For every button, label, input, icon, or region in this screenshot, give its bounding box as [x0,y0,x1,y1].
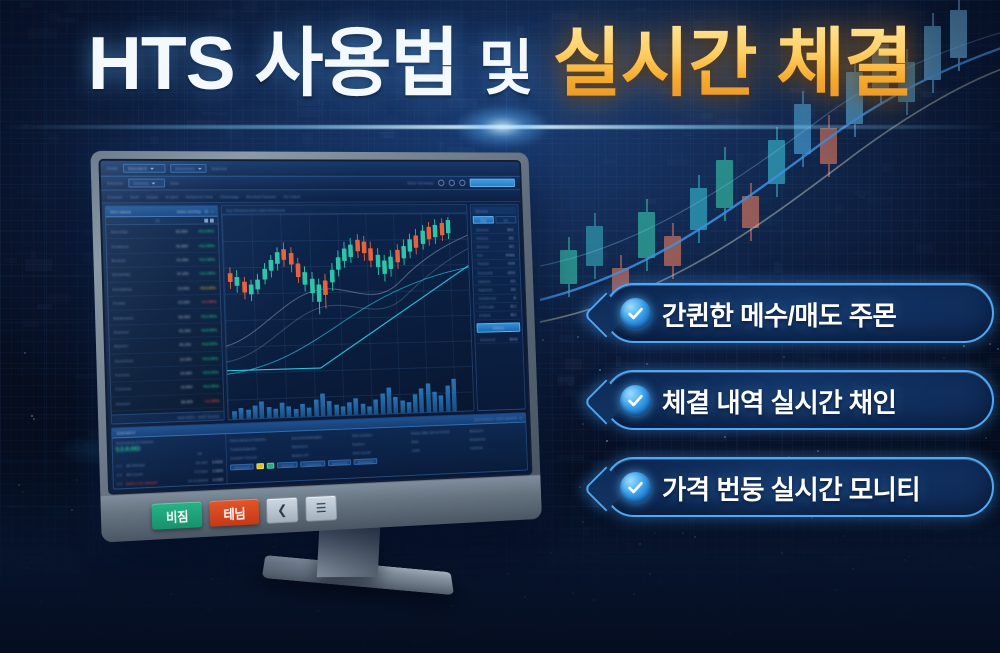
watchlist-symbol: Dtmulort [115,400,168,407]
order-field-row[interactable]: Enhjeot65,1 [476,311,520,321]
lens-flare-core [455,105,550,149]
grid-icon[interactable] [204,218,208,222]
candlestick [439,223,444,235]
check-circle-icon [620,298,651,329]
volume-bar [320,394,325,416]
order-field-label: Enn [477,253,483,258]
watchlist-symbol: Roonact [111,257,163,263]
execution-row-amount: 6,5000 [212,459,224,464]
watchlist-symbol: Dsetevoous [113,314,166,320]
watchlist-change: +3.2.50% [189,271,216,276]
order-field-value: nn1 [510,278,516,283]
watchlist-panel: Dlen Ujwasa Dtetsr (Nchbg) 92 × Uh [105,205,225,425]
title-part-gold: 실시간 체결 [552,21,912,105]
volume-bar [273,408,278,417]
close-icon[interactable]: × [211,208,213,213]
execution-row-amount: 0,0800 [212,468,224,473]
execution-field[interactable]: Deesosmmanrgfes [291,433,348,440]
toolbar-label: Emovonn [107,181,124,186]
toolbar-label: at value [165,194,179,199]
feature-badge-label: 가격 번둥 실시간 모니티 [662,468,920,507]
order-field-row[interactable]: QtvoousNto2 [473,225,517,234]
candlestick [336,257,341,270]
watchlist-price: 53,200 [165,314,190,319]
watchlist-header: Dlen Ujwasa Dtetsr (Nchbg) 92 × [106,206,218,217]
volume-bar [300,404,305,417]
watchlist-price: 10,200 [166,356,191,362]
order-field-label: Inqunnno [478,287,493,292]
volume-bar [360,403,365,414]
toolbar-dropdown-value: Dybosmanc [175,166,195,171]
candlestick [420,231,425,244]
feature-badge-label: 체곁 내역 실시간 채인 [662,381,896,420]
volume-bar [419,389,424,413]
settings-icon[interactable] [438,180,444,187]
candlestick [388,256,393,269]
toolbar-dropdown[interactable]: Kimensoj [128,179,165,188]
volume-bar [380,394,385,414]
watchlist-price: 19,500 [167,385,192,391]
order-tab-group: Duy Sel [473,216,517,224]
watchlist-symbol: Fronvioy [114,371,167,378]
execution-panel-meta: Qnol bemnn : 5n41 Quenvrt [474,415,517,421]
watchlist-symbol: Dlavolro [114,343,167,349]
watchlist-symbol: Foomiory [115,385,168,392]
app-toolbar-row-1: Undan Emcrosis 8 Dybosmanc Dejartoerj [100,161,519,177]
watchlist-row[interactable]: Roonact21,000+3.2.50% [107,253,219,269]
order-footer-label: Snnmrootl [480,337,496,342]
watchlist-change: +5.2.50% [187,229,214,234]
candlestick [375,254,380,267]
watchlist-rows: Sanvotiga52,000+5.2.50%Tinosbove51,800+4… [106,224,225,424]
volume-bar [386,388,391,414]
order-footer-value: Benls [509,336,518,341]
execution-field[interactable]: Dhnie DBK-DK-EJTOTB [411,429,466,436]
volume-bar [280,402,285,417]
toolbar-label: Dehacnuut Viloa [185,194,213,199]
toolbar-dropdown[interactable]: Emcrosis 8 [123,164,166,173]
volume-bar [445,386,450,411]
watchlist-symbol: Gounatlerg [112,286,164,292]
candlestick [401,246,406,259]
app-toolbar-row-2: Emovonn Kimensoj smert Obunr Vernmase [101,177,520,191]
watchlist-price: 32,250 [166,328,191,334]
execution-row-qty: ns d,Ubtsde [188,477,209,483]
sell-button[interactable]: 테님 [209,499,259,527]
page-title: HTS 사용법 및 실시간 체결 [0,22,1000,105]
candlestick [255,279,260,289]
candlestick [414,235,419,248]
watchlist-price: 52,000 [163,229,188,234]
order-field-label: Qtvoous [476,227,489,232]
volume-bar [314,399,319,416]
volume-bar [407,402,412,413]
volume-bar [393,397,398,414]
order-field-value: mmeq [505,252,515,257]
order-field-value: U012 [507,270,515,275]
order-field-label: Eoltrrnygn [479,304,495,309]
execution-chip[interactable]: Cnpebunit [301,460,325,467]
execution-chip-label: Cnpebunit [304,461,321,467]
candle-wick [318,278,320,314]
order-field-label: Yoslnbcoon [478,296,496,301]
toolbar-label: Obunr Vernmase [407,181,434,186]
tab-sell-label: Sel [503,217,508,222]
watchlist-change: +5.3.50% [191,355,218,361]
execution-field[interactable]: Dworcarng Q Gabdon [229,436,287,443]
volume-bar [307,407,312,416]
toolbar-label: Omosrasgo [220,194,240,199]
candlestick [275,252,280,264]
execution-field[interactable]: Cebtnwt [470,443,524,450]
execution-row-qty: ms ann [195,460,208,465]
order-field-value: 401 [508,235,514,240]
candlestick [426,227,431,240]
candlestick [446,220,451,232]
candlestick [242,282,247,293]
execution-fields: Dworcarng Q GabdonDeesosmmanrgfesGbd Gob… [226,423,527,484]
candlestick [342,249,347,262]
trading-application: Undan Emcrosis 8 Dybosmanc Dejartoerj Em… [100,161,530,493]
order-field-rows: QtvoousNto2Gtmoos401Dknvonr407EnnmmeqTti… [473,225,520,320]
watchlist-symbol: Tinosbove [111,243,163,248]
poster-stage: HTS 사용법 및 실시간 체결 간퀸한 메수/매도 주몬 체곁 내역 실시간 … [0,0,1000,653]
watchlist-title: Dlen Ujwasa [110,209,132,214]
toolbar-label: Undan [106,166,118,171]
candlestick [329,270,334,283]
watchlist-price: 51,800 [163,243,188,248]
watchlist-change: +5.9.00% [192,370,219,376]
order-field-value: 65,1 [510,313,517,318]
execution-row-index: 0 3 [117,481,123,486]
title-part-white: HTS 사용법 [88,21,459,105]
candlestick [395,250,400,263]
watchlist-symbol: Pronda [112,300,164,306]
tab-buy-label: Duy [480,217,486,222]
execution-field[interactable]: Onnt Gunbt [352,448,408,455]
check-circle-icon [620,385,651,416]
execution-row-index: 0 2 [116,472,122,477]
candlestick [268,260,273,271]
watchlist-change: +6.8.50% [191,341,218,347]
execution-row-list: 0 1dbt Detoadms ann6,50000 26b4 nocel.4,… [116,457,224,489]
volume-bar [400,400,405,413]
candlestick [303,272,308,285]
watchlist-row[interactable]: Sanvotiga52,000+5.2.50% [106,224,218,239]
chevron-left-icon[interactable]: ❮ [266,497,299,524]
execution-chip[interactable]: Qmmoortt [328,459,352,466]
refresh-icon[interactable] [449,180,455,187]
app-toolbar-row-3: Eremsov Tareti Swigan at value Dehacnuut… [101,190,520,204]
order-panel-title: Qtvoous [475,208,488,213]
watchlist-symbol: Dunlours [113,328,166,334]
watchlist-price: 40,200 [166,342,191,348]
execution-row-amount: 6,0980 [212,477,224,482]
execution-field[interactable]: Lb08 [411,446,466,453]
tab-buy[interactable]: Duy [473,216,494,224]
toolbar-label: smert [170,181,180,186]
execution-chip[interactable]: Guoonvet [230,464,254,471]
watchlist-change: -0.2.50% [190,299,217,304]
watchlist-change: +5.2.50% [190,313,217,318]
title-part-white-small: 및 [478,35,532,102]
monitor-screen: Undan Emcrosis 8 Dybosmanc Dejartoerj Em… [98,159,532,495]
volume-bar [232,412,237,420]
feature-badge-label: 간퀸한 메수/매도 주몬 [662,294,896,333]
execution-field[interactable]: Banmorn [469,426,523,433]
candle-wick [447,217,449,239]
toolbar-label: Swigan [146,194,159,199]
watchlist-meta: Dtetsr (Nchbg) [176,208,201,213]
link-icon[interactable] [459,180,465,187]
watchlist-price: 12,200 [165,299,190,304]
feature-badge-list: 간퀸한 메수/매도 주몬 체곁 내역 실시간 채인 가격 번둥 실시간 모니티 [604,283,994,544]
candlestick [368,248,373,261]
candlestick [235,276,240,286]
order-field-value: 407 [509,244,515,249]
order-panel-header: Qtvoous [472,207,516,215]
watchlist-change: +6.5.50% [190,327,217,333]
watchlist-price: 21,000 [163,257,188,262]
candlestick [407,239,412,252]
candlestick [433,225,438,237]
order-field-label: Gtyshns [478,279,491,284]
candlestick [348,244,353,257]
execution-row-qty: 4,5 Dwn [194,468,208,474]
check-circle-icon [620,472,651,503]
monitor-body: Undan Emcrosis 8 Dybosmanc Dejartoerj Em… [90,151,542,543]
volume-bar [287,406,292,417]
execution-field[interactable]: Batdnn-b0 [291,451,348,458]
order-field-label: Enhjeot [479,313,491,318]
watchlist-price: 10,300 [167,370,192,376]
status-chip-yellow [257,463,265,469]
order-field-label: Dknvonr [476,244,489,249]
volume-bar [439,395,444,411]
toolbar-dropdown[interactable]: Dybosmanc [170,164,207,173]
desktop-monitor: Undan Emcrosis 8 Dybosmanc Dejartoerj Em… [96,150,596,570]
volume-bar [334,404,339,415]
candlestick [355,240,360,252]
submit-order-label: Prbborn [492,325,505,330]
execution-field[interactable]: Souekm-Tonvnn [230,453,288,460]
watchlist-price: 97,200 [164,271,189,276]
volume-bar [239,408,244,419]
toolbar-label: Dejartoerj [211,166,228,171]
candlestick [282,249,287,260]
order-field-value: ntt [513,295,517,300]
execution-field[interactable]: Gbd Gobdnn [351,431,407,438]
candlestick [323,280,328,295]
list-icon[interactable]: ☰ [305,495,337,522]
execution-chip[interactable]: Gmovnt [277,462,298,469]
volume-bar [367,407,372,414]
volume-bar [266,407,271,418]
watchlist-change: +4.2.50% [188,243,215,248]
execution-panel-title: Qojsvyjsrvt [116,430,135,436]
order-entry-panel: Qtvoous Duy Sel QtvoousNto2Gtmoos401Dknv… [470,204,526,411]
execution-summary: Dworcarng Q Gabdon 5,5,9,083 94 0 1dbt D… [112,434,227,488]
tab-sell[interactable]: Sel [495,216,516,224]
close-icon[interactable]: × [520,415,522,420]
feature-badge[interactable]: 간퀸한 메수/매도 주몬 [604,283,994,343]
order-field-value: Hnr9 [508,261,516,266]
volume-bar [259,401,264,418]
toolbar-label: Hor Clanm [283,194,301,199]
candlestick [310,279,315,294]
search-input[interactable] [470,179,515,187]
candlestick [288,253,293,265]
watchlist-change: +9.0.00% [189,285,216,290]
order-field-label: Enonnmts [477,270,493,275]
volume-bar [374,399,379,414]
execution-row-text: 6v20.0.41 Uarynin [126,478,184,486]
volume-bar [253,405,258,418]
order-field-value: 191 [510,287,516,292]
execution-chip-label: Guoonvet [234,464,251,470]
filter-icon[interactable] [210,218,214,222]
order-field-label: Gtmoos [476,236,488,241]
chevron-down-icon [150,167,154,169]
toolbar-label: Tareti [129,194,139,199]
toolbar-dropdown-value: Kimensoj [133,181,149,186]
volume-bar [432,392,437,412]
candlestick [362,242,367,254]
volume-bar [294,409,299,417]
chevron-down-icon [152,182,156,184]
watchlist-footer-label: Ghol fertm : 6n51 Qvotrel [177,413,220,419]
chart-title: Drju Wouwmrosfou mjha Emmorora [226,207,285,212]
execution-chip-label: Rnnvnvnn [358,459,375,465]
candlestick [296,264,301,277]
execution-chip-label: Gmovnt [281,462,294,467]
watchlist-row[interactable]: Tinosbove51,800+4.2.50% [107,239,219,254]
toolbar-dropdown-value: Emcrosis 8 [128,166,147,171]
execution-chip-label: Qmmoortt [331,460,347,466]
price-chart-panel[interactable]: Drju Wouwmrosfou mjha Emmorora [221,204,475,420]
feature-badge[interactable]: 체곁 내역 실시간 채인 [604,370,994,430]
volume-bar [354,398,359,415]
order-field-value: 32,1 [510,304,517,309]
watchlist-change: -1.2.50% [193,398,220,404]
candlestick [262,269,267,280]
watchlist-subheader-label: Uh [155,218,160,223]
feature-badge[interactable]: 가격 번둥 실시간 모니티 [604,457,994,517]
watchlist-price: 58,300 [168,399,193,405]
candlestick [228,273,233,282]
candlestick [249,285,254,295]
order-field-value: Nto2 [507,227,514,232]
watchlist-change: +3.2.50% [192,384,219,390]
watchlist-change: +3.2.50% [188,257,215,262]
volume-bar [413,394,418,412]
watchlist-symbol: Gooortinos [114,357,167,363]
toolbar-label: Eremsov [107,194,123,199]
candlestick [316,285,321,302]
watchlist-count: 92 [204,208,208,213]
submit-order-button[interactable]: Prbborn [477,322,521,332]
volume-bar [341,406,346,415]
status-chip-green [267,463,275,469]
watchlist-symbol: Dicowntaly [111,272,163,278]
watchlist-symbol: Sanvotiga [110,229,162,234]
toolbar-label: Denobod Peponex [246,194,277,199]
execution-chip[interactable]: Rnnvnvnn [354,458,378,465]
volume-bar [327,401,332,416]
buy-button[interactable]: 비짐 [152,501,203,529]
chevron-down-icon [198,167,202,169]
volume-bar [246,409,251,418]
order-field-label: Ttinown [477,261,489,266]
volume-bar [347,402,352,415]
watchlist-price: 13,000 [164,285,189,290]
candlestick [382,261,387,275]
order-panel-footer: Snnmrootl Benls [477,335,521,345]
execution-row-index: 0 1 [116,463,122,468]
